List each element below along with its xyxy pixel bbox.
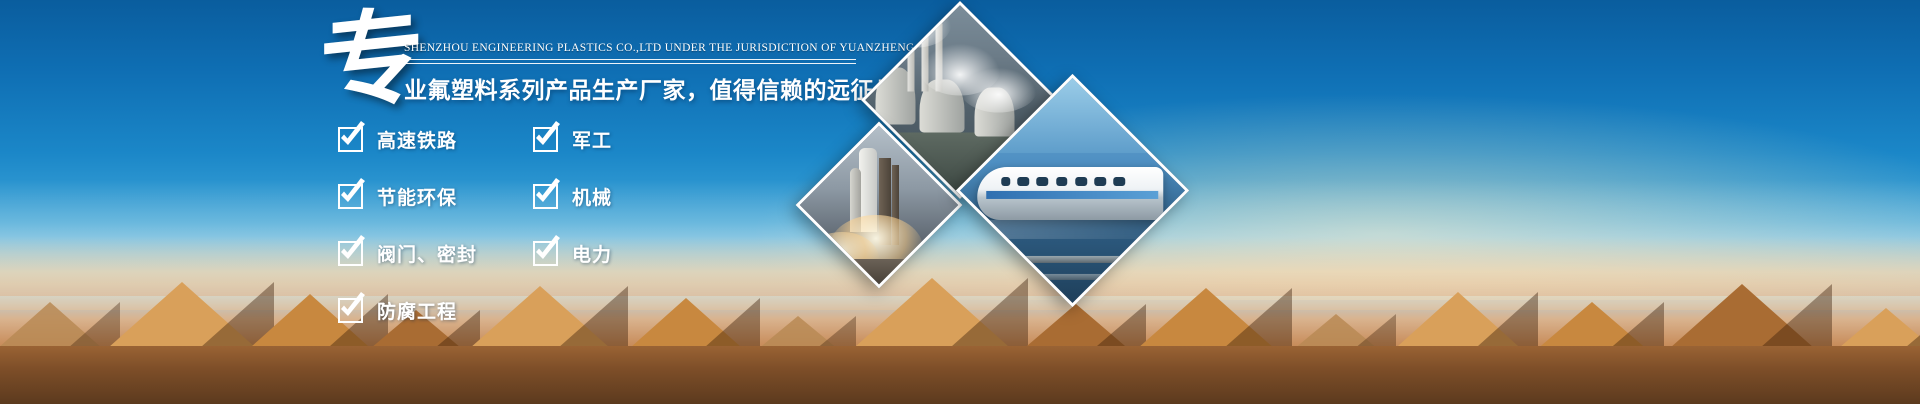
feature-item: 防腐工程 [338, 291, 477, 330]
checkbox-checked-icon [338, 241, 363, 266]
feature-label: 防腐工程 [377, 297, 457, 324]
feature-label: 节能环保 [377, 183, 457, 210]
diamond-photo-group [820, 18, 1240, 298]
feature-item: 阀门、密封 [338, 234, 477, 273]
feature-column-right: 军工 机械 电力 [533, 120, 612, 291]
checkbox-checked-icon [338, 298, 363, 323]
feature-label: 军工 [572, 126, 612, 153]
feature-item: 节能环保 [338, 177, 477, 216]
checkbox-checked-icon [338, 184, 363, 209]
checkbox-checked-icon [533, 184, 558, 209]
feature-item: 电力 [533, 234, 612, 273]
promo-banner: 专 SHENZHOU ENGINEERING PLASTICS CO.,LTD … [0, 0, 1920, 404]
checkbox-checked-icon [533, 127, 558, 152]
feature-label: 电力 [572, 240, 612, 267]
feature-label: 机械 [572, 183, 612, 210]
feature-item: 军工 [533, 120, 612, 159]
feature-item: 机械 [533, 177, 612, 216]
feature-column-left: 高速铁路 节能环保 阀门、密封 防腐工程 [338, 120, 477, 348]
checkbox-checked-icon [533, 241, 558, 266]
feature-label: 阀门、密封 [377, 240, 477, 267]
feature-item: 高速铁路 [338, 120, 477, 159]
feature-label: 高速铁路 [377, 126, 457, 153]
title-divider-rule [404, 59, 856, 64]
desert-ground [0, 346, 1920, 404]
checkbox-checked-icon [338, 127, 363, 152]
